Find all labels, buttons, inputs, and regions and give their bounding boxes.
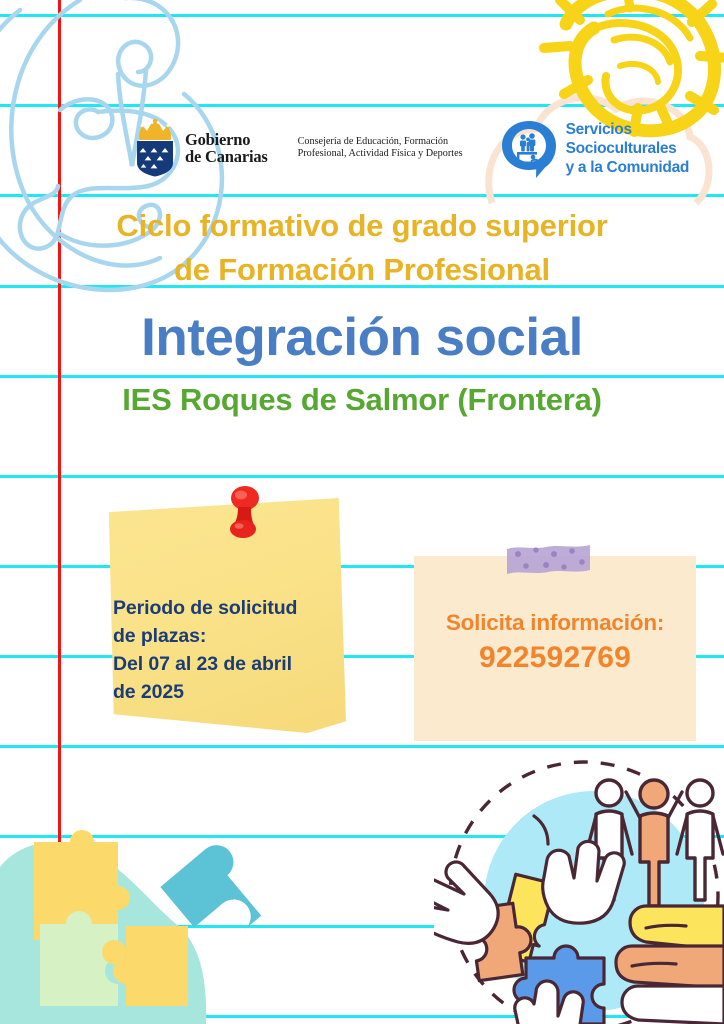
- servicios-logo-text: Servicios Socioculturales y a la Comunid…: [566, 120, 690, 177]
- poster-canvas: Gobierno de Canarias Consejería de Educa…: [0, 0, 724, 1024]
- info-note-text-wrap: Solicita información: 922592769: [414, 608, 696, 676]
- gobierno-wordmark: Gobierno de Canarias: [185, 131, 268, 165]
- hands-puzzle-community-illustration: [434, 756, 724, 1024]
- consejeria-text: Consejería de Educación, Formación Profe…: [298, 136, 463, 161]
- sticky-note-text: Periodo de solicitud de plazas: Del 07 a…: [113, 594, 347, 706]
- puzzle-pieces-illustration: [0, 774, 265, 1024]
- page-subtitle-centro: IES Roques de Salmor (Frontera): [0, 380, 724, 420]
- header-logo-row: Gobierno de Canarias Consejería de Educa…: [0, 108, 724, 188]
- info-note-label: Solicita información:: [414, 608, 696, 638]
- notebook-rule-line: [0, 14, 724, 17]
- canary-islands-crest-icon: [132, 119, 178, 177]
- pushpin-icon: [221, 485, 267, 549]
- info-note-contacto: Solicita información: 922592769: [414, 556, 696, 741]
- gobierno-de-canarias-logo: Gobierno de Canarias: [132, 119, 268, 177]
- notebook-rule-line: [0, 104, 724, 107]
- speech-bubble-people-icon: [498, 117, 560, 179]
- sticky-note-solicitud: Periodo de solicitud de plazas: Del 07 a…: [104, 498, 346, 733]
- notebook-rule-line: [0, 475, 724, 478]
- page-subtitle-ciclo: Ciclo formativo de grado superior de For…: [0, 204, 724, 292]
- heading-block: Ciclo formativo de grado superior de For…: [0, 204, 724, 420]
- page-title: Integración social: [0, 306, 724, 370]
- notebook-rule-line: [0, 194, 724, 197]
- servicios-socioculturales-logo: Servicios Socioculturales y a la Comunid…: [498, 117, 690, 179]
- info-note-phone: 922592769: [414, 640, 696, 676]
- notebook-rule-line: [0, 745, 724, 748]
- washi-tape-icon: [506, 543, 591, 576]
